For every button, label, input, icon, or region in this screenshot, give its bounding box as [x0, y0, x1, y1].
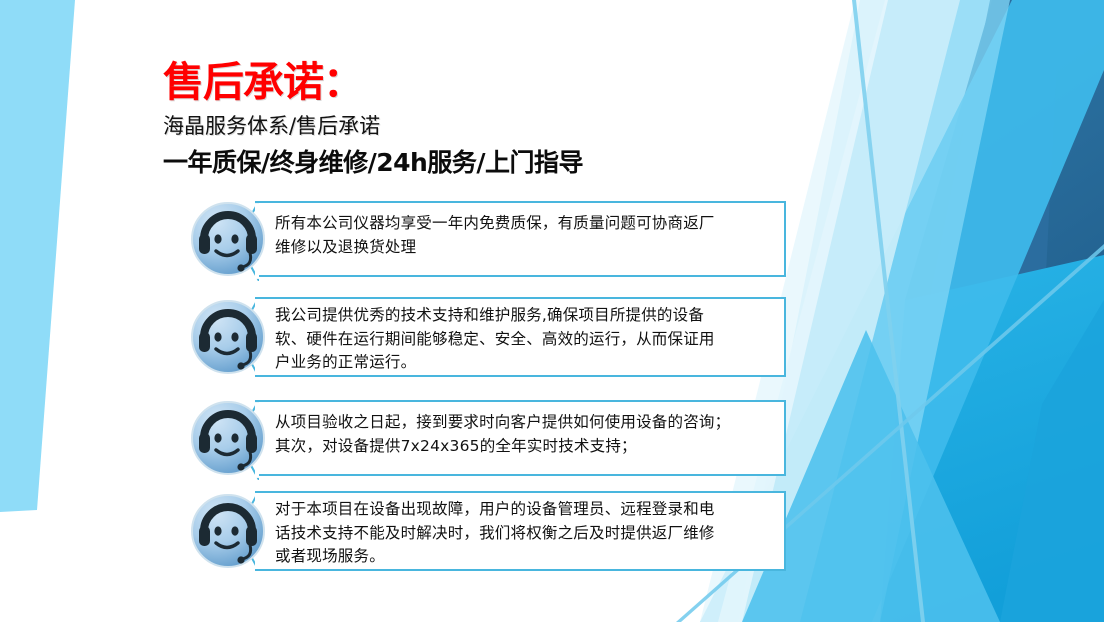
callout-line: 对于本项目在设备出现故障，用户的设备管理员、远程登录和电: [275, 498, 770, 522]
callout-box: 从项目验收之日起，接到要求时向客户提供如何使用设备的咨询； 其次，对设备提供7x…: [255, 400, 786, 476]
callout-box: 我公司提供优秀的技术支持和维护服务,确保项目所提供的设备 软、硬件在运行期间能够…: [255, 297, 786, 377]
callout-text: 从项目验收之日起，接到要求时向客户提供如何使用设备的咨询； 其次，对设备提供7x…: [257, 402, 784, 458]
list-item: 所有本公司仪器均享受一年内免费质保，有质量问题可协商返厂 维修以及退换货处理: [190, 201, 786, 281]
slide-canvas: 售后承诺： 海晶服务体系/售后承诺 一年质保/终身维修/24h服务/上门指导 所…: [0, 0, 1104, 622]
headset-agent-avatar-icon: [190, 400, 266, 476]
callout-line: 维修以及退换货处理: [275, 236, 770, 260]
list-item: 对于本项目在设备出现故障，用户的设备管理员、远程登录和电 话技术支持不能及时解决…: [190, 491, 786, 571]
callout-box: 所有本公司仪器均享受一年内免费质保，有质量问题可协商返厂 维修以及退换货处理: [255, 201, 786, 277]
heading-group: 售后承诺： 海晶服务体系/售后承诺 一年质保/终身维修/24h服务/上门指导: [163, 62, 863, 175]
callout-line: 所有本公司仪器均享受一年内免费质保，有质量问题可协商返厂: [275, 212, 770, 236]
callout-text: 对于本项目在设备出现故障，用户的设备管理员、远程登录和电 话技术支持不能及时解决…: [257, 493, 784, 569]
callout-text: 我公司提供优秀的技术支持和维护服务,确保项目所提供的设备 软、硬件在运行期间能够…: [257, 299, 784, 375]
callout-line: 其次，对设备提供7x24x365的全年实时技术支持；: [275, 435, 770, 459]
callout-line: 户业务的正常运行。: [275, 351, 770, 375]
headset-agent-avatar-icon: [190, 493, 266, 569]
callout-line: 软、硬件在运行期间能够稳定、安全、高效的运行，从而保证用: [275, 328, 770, 352]
headset-agent-avatar-icon: [190, 299, 266, 375]
callout-text: 所有本公司仪器均享受一年内免费质保，有质量问题可协商返厂 维修以及退换货处理: [257, 203, 784, 259]
callout-line: 或者现场服务。: [275, 545, 770, 569]
callout-line: 话技术支持不能及时解决时，我们将权衡之后及时提供返厂维修: [275, 522, 770, 546]
list-item: 从项目验收之日起，接到要求时向客户提供如何使用设备的咨询； 其次，对设备提供7x…: [190, 400, 786, 480]
left-blue-wedge: [0, 0, 75, 512]
callout-box: 对于本项目在设备出现故障，用户的设备管理员、远程登录和电 话技术支持不能及时解决…: [255, 491, 786, 571]
page-title: 售后承诺：: [163, 62, 863, 103]
callout-line: 从项目验收之日起，接到要求时向客户提供如何使用设备的咨询；: [275, 411, 770, 435]
page-subtitle: 一年质保/终身维修/24h服务/上门指导: [163, 150, 863, 175]
callout-line: 我公司提供优秀的技术支持和维护服务,确保项目所提供的设备: [275, 304, 770, 328]
list-item: 我公司提供优秀的技术支持和维护服务,确保项目所提供的设备 软、硬件在运行期间能够…: [190, 297, 786, 377]
headset-agent-avatar-icon: [190, 201, 266, 277]
breadcrumb: 海晶服务体系/售后承诺: [163, 116, 863, 137]
